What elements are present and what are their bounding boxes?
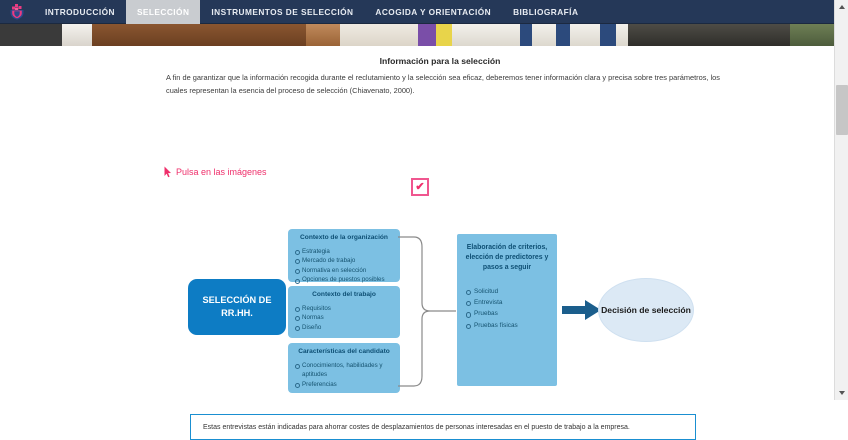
nav-item-list: INTRODUCCIÓN SELECCIÓN INSTRUMENTOS DE S… xyxy=(34,0,589,24)
box-item-list: Requisitos Normas Diseño xyxy=(288,304,400,338)
info-callout-box: Estas entrevistas están indicadas para a… xyxy=(190,414,696,440)
scroll-up-button[interactable] xyxy=(835,0,848,14)
box-title: Elaboración de criterios, elección de pr… xyxy=(457,234,557,273)
diagram-box-contexto-trabajo[interactable]: Contexto del trabajo Requisitos Normas D… xyxy=(288,286,400,338)
list-item: Entrevista xyxy=(466,297,551,308)
diagram-result-ellipse[interactable]: Decisión de selección xyxy=(598,278,694,342)
diagram-box-contexto-organizacion[interactable]: Contexto de la organización Estrategia M… xyxy=(288,229,400,282)
flower-logo-icon xyxy=(8,4,26,20)
top-navigation-bar: INTRODUCCIÓN SELECCIÓN INSTRUMENTOS DE S… xyxy=(0,0,848,24)
box-title: Contexto de la organización xyxy=(288,229,400,247)
list-item: Preferencias xyxy=(295,380,394,390)
list-item: Conocimientos, habilidades y aptitudes xyxy=(295,361,394,380)
list-item: Pruebas xyxy=(466,308,551,319)
nav-item-label: BIBLIOGRAFÍA xyxy=(513,7,578,17)
header-banner-image xyxy=(0,24,848,46)
diagram-main-box-label: SELECCIÓN DE RR.HH. xyxy=(188,294,286,321)
diagram-box-criterios[interactable]: Elaboración de criterios, elección de pr… xyxy=(457,234,557,386)
page-content: Información para la selección A fin de g… xyxy=(0,46,834,400)
right-arrow-icon xyxy=(562,298,602,322)
diagram-box-caracteristicas-candidato[interactable]: Características del candidato Conocimien… xyxy=(288,343,400,393)
nav-item-label: INSTRUMENTOS DE SELECCIÓN xyxy=(211,7,353,17)
scroll-down-button[interactable] xyxy=(835,386,848,400)
list-item: Requisitos xyxy=(295,304,394,314)
list-item: Normas xyxy=(295,313,394,323)
box-title: Contexto del trabajo xyxy=(288,286,400,304)
list-item: Solicitud xyxy=(466,286,551,297)
site-logo[interactable] xyxy=(0,0,34,24)
box-item-list: Estrategia Mercado de trabajo Normativa … xyxy=(288,247,400,290)
list-item: Diseño xyxy=(295,323,394,333)
diagram-result-label: Decisión de selección xyxy=(601,304,691,317)
chevron-down-icon xyxy=(839,391,845,395)
chevron-up-icon xyxy=(839,5,845,9)
diagram-main-box[interactable]: SELECCIÓN DE RR.HH. xyxy=(188,279,286,335)
vertical-scrollbar[interactable] xyxy=(834,0,848,400)
list-item: Pruebas físicas xyxy=(466,320,551,331)
nav-item-label: SELECCIÓN xyxy=(137,7,189,17)
nav-item-label: INTRODUCCIÓN xyxy=(45,7,115,17)
box-item-list: Solicitud Entrevista Pruebas Pruebas fís… xyxy=(457,273,557,331)
nav-item-introduccion[interactable]: INTRODUCCIÓN xyxy=(34,0,126,24)
info-callout-text: Estas entrevistas están indicadas para a… xyxy=(203,424,630,431)
box-item-list: Conocimientos, habilidades y aptitudes P… xyxy=(288,361,400,395)
box-title: Características del candidato xyxy=(288,343,400,361)
nav-item-bibliografia[interactable]: BIBLIOGRAFÍA xyxy=(502,0,589,24)
selection-process-diagram: SELECCIÓN DE RR.HH. Contexto de la organ… xyxy=(0,46,834,400)
nav-item-label: ACOGIDA Y ORIENTACIÓN xyxy=(375,7,491,17)
nav-item-instrumentos-de-seleccion[interactable]: INSTRUMENTOS DE SELECCIÓN xyxy=(200,0,364,24)
list-item: Opciones de puestos posibles xyxy=(295,275,394,285)
scrollbar-thumb[interactable] xyxy=(836,85,848,135)
nav-item-seleccion[interactable]: SELECCIÓN xyxy=(126,0,200,24)
list-item: Normativa en selección xyxy=(295,266,394,276)
list-item: Estrategia xyxy=(295,247,394,257)
brace-connector xyxy=(396,229,462,394)
nav-item-acogida-y-orientacion[interactable]: ACOGIDA Y ORIENTACIÓN xyxy=(364,0,502,24)
list-item: Mercado de trabajo xyxy=(295,256,394,266)
